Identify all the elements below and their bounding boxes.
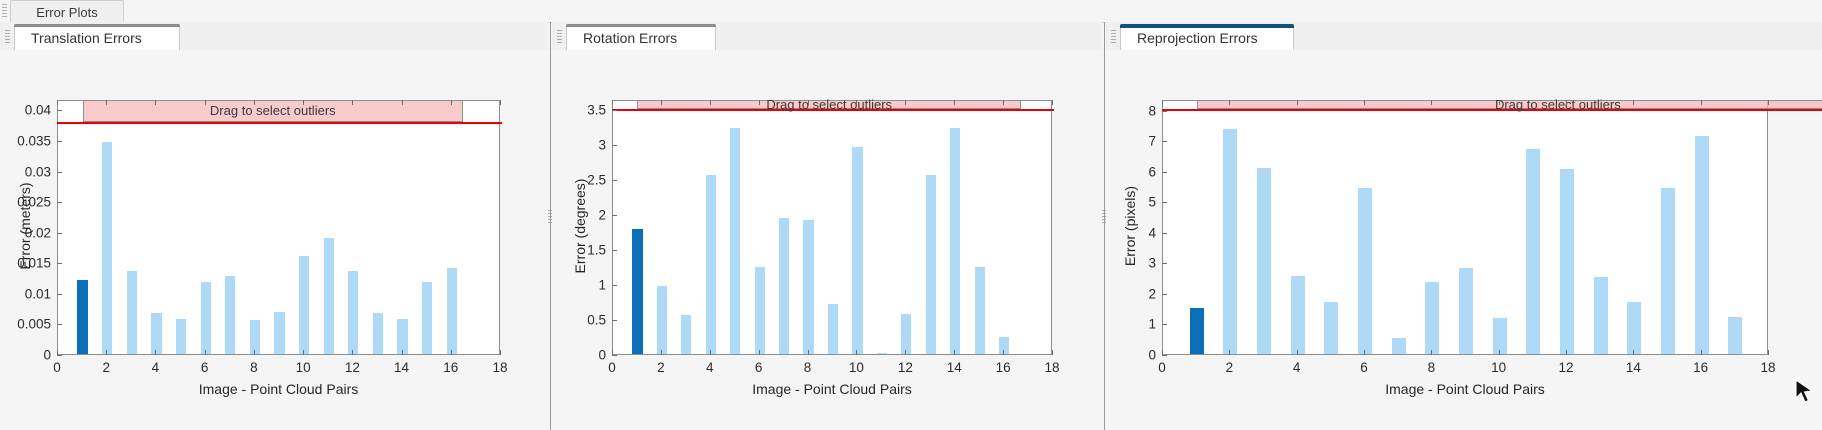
- bar[interactable]: [657, 286, 667, 354]
- x-axis-tick-mark: [612, 350, 613, 355]
- x-axis-tick-mark: [808, 350, 809, 355]
- x-axis-tick-label: 6: [755, 360, 763, 375]
- x-axis-tick-mark: [1364, 350, 1365, 355]
- x-axis-tick-label: 14: [1626, 360, 1641, 375]
- plot-area[interactable]: Drag to select outliers: [57, 100, 500, 355]
- x-axis-tick-label: 18: [1760, 360, 1775, 375]
- outlier-threshold-line[interactable]: [1162, 109, 1822, 111]
- x-axis-top-tick-mark: [1297, 100, 1298, 105]
- bar[interactable]: [730, 128, 740, 354]
- x-axis-tick-label: 18: [1044, 360, 1059, 375]
- x-axis-tick-label: 2: [657, 360, 665, 375]
- bar[interactable]: [1695, 136, 1709, 354]
- y-axis-tick-mark: [1162, 202, 1167, 203]
- y-axis-label: Error (degrees): [572, 146, 588, 306]
- y-axis-label: Error (meters): [17, 146, 33, 306]
- bar[interactable]: [1728, 317, 1742, 354]
- x-axis-top-tick-mark: [612, 100, 613, 105]
- plot-panel-1: Translation ErrorsDrag to select outlier…: [0, 22, 548, 430]
- x-axis-top-tick-mark: [1633, 100, 1634, 105]
- x-axis-tick-mark: [1701, 350, 1702, 355]
- y-axis-tick-mark: [57, 263, 62, 264]
- x-axis-tick-mark: [1633, 350, 1634, 355]
- tab-grip-icon[interactable]: [1111, 30, 1116, 43]
- x-axis-label: Image - Point Cloud Pairs: [57, 381, 500, 397]
- x-axis-top-tick-mark: [352, 100, 353, 105]
- bar[interactable]: [1324, 302, 1338, 354]
- x-axis-tick-label: 16: [1693, 360, 1708, 375]
- x-axis-top-tick-mark: [1499, 100, 1500, 105]
- bar[interactable]: [632, 229, 642, 354]
- plot-panels: Translation ErrorsDrag to select outlier…: [0, 22, 1822, 430]
- y-axis-tick-label: 0.5: [560, 313, 606, 328]
- x-axis-top-tick-mark: [1566, 100, 1567, 105]
- bar[interactable]: [1291, 276, 1305, 354]
- panel-splitter-2[interactable]: [1104, 22, 1105, 430]
- x-axis-tick-label: 8: [804, 360, 812, 375]
- x-axis-top-tick-mark: [661, 100, 662, 105]
- y-axis-tick-mark: [612, 285, 617, 286]
- y-axis-label: Error (pixels): [1122, 146, 1138, 306]
- x-axis-tick-mark: [1162, 350, 1163, 355]
- bar[interactable]: [877, 353, 887, 354]
- y-axis-tick-mark: [57, 202, 62, 203]
- tab-rotation-errors[interactable]: Rotation Errors: [566, 24, 716, 51]
- x-axis-top-tick-mark: [710, 100, 711, 105]
- bar[interactable]: [201, 282, 211, 354]
- x-axis-top-tick-mark: [402, 100, 403, 105]
- y-axis-tick-mark: [612, 250, 617, 251]
- x-axis-tick-label: 12: [1558, 360, 1573, 375]
- x-axis-tick-mark: [57, 350, 58, 355]
- bar[interactable]: [274, 312, 284, 354]
- y-axis-tick-mark: [1162, 233, 1167, 234]
- outlier-selection-band[interactable]: Drag to select outliers: [637, 100, 1021, 109]
- x-axis-top-tick-mark: [106, 100, 107, 105]
- bar[interactable]: [1425, 282, 1439, 354]
- tab-label: Rotation Errors: [583, 30, 677, 46]
- bar[interactable]: [1459, 268, 1473, 354]
- x-axis-tick-label: 0: [608, 360, 616, 375]
- y-axis-tick-mark: [57, 141, 62, 142]
- y-axis-tick-label: 0.04: [5, 103, 51, 118]
- y-axis-tick-label: 8: [1110, 103, 1156, 118]
- y-axis-tick-label: 0: [560, 348, 606, 363]
- y-axis-tick-mark: [57, 172, 62, 173]
- x-axis-tick-label: 4: [1293, 360, 1301, 375]
- x-axis-top-tick-mark: [1768, 100, 1769, 105]
- y-axis-tick-mark: [612, 110, 617, 111]
- y-axis-tick-mark: [612, 320, 617, 321]
- outlier-selection-band[interactable]: Drag to select outliers: [83, 100, 463, 122]
- bar[interactable]: [1392, 338, 1406, 354]
- x-axis-top-tick-mark: [254, 100, 255, 105]
- x-axis-top-tick-mark: [451, 100, 452, 105]
- x-axis-tick-label: 8: [250, 360, 258, 375]
- y-axis-tick-mark: [57, 110, 62, 111]
- x-axis-top-tick-mark: [1229, 100, 1230, 105]
- x-axis-tick-mark: [352, 350, 353, 355]
- document-tab-label: Error Plots: [36, 5, 97, 20]
- x-axis-top-tick-mark: [1431, 100, 1432, 105]
- x-axis-tick-label: 6: [201, 360, 209, 375]
- x-axis-tick-label: 10: [849, 360, 864, 375]
- bar[interactable]: [324, 238, 334, 354]
- x-axis-tick-mark: [1431, 350, 1432, 355]
- document-tabstrip: Error Plots: [0, 0, 1822, 23]
- tab-label: Reprojection Errors: [1137, 30, 1258, 46]
- y-axis-tick-mark: [612, 145, 617, 146]
- document-tab-error-plots[interactable]: Error Plots: [10, 0, 124, 23]
- x-axis-tick-label: 4: [706, 360, 714, 375]
- bar[interactable]: [1560, 169, 1574, 354]
- x-axis-top-tick-mark: [1162, 100, 1163, 105]
- x-axis-tick-mark: [1297, 350, 1298, 355]
- x-axis-label: Image - Point Cloud Pairs: [1162, 381, 1768, 397]
- bar[interactable]: [1661, 188, 1675, 354]
- bar[interactable]: [1223, 129, 1237, 354]
- x-axis-top-tick-mark: [856, 100, 857, 105]
- x-axis-top-tick-mark: [500, 100, 501, 105]
- bar[interactable]: [681, 315, 691, 354]
- bar[interactable]: [1257, 168, 1271, 354]
- x-axis-top-tick-mark: [1003, 100, 1004, 105]
- bar[interactable]: [225, 276, 235, 354]
- bar[interactable]: [803, 220, 813, 354]
- x-axis-top-tick-mark: [1052, 100, 1053, 105]
- tab-active-indicator: [566, 24, 716, 27]
- x-axis-tick-mark: [1499, 350, 1500, 355]
- x-axis-tick-label: 10: [296, 360, 311, 375]
- x-axis-tick-mark: [905, 350, 906, 355]
- mouse-cursor-icon: [1794, 378, 1816, 404]
- bar[interactable]: [176, 319, 186, 354]
- bar[interactable]: [828, 304, 838, 354]
- outlier-selection-band[interactable]: Drag to select outliers: [1197, 100, 1822, 109]
- bar[interactable]: [1526, 149, 1540, 354]
- bar[interactable]: [1190, 308, 1204, 354]
- y-axis-tick-mark: [57, 233, 62, 234]
- bar[interactable]: [447, 268, 457, 354]
- bar[interactable]: [151, 313, 161, 354]
- y-axis-tick-mark: [57, 324, 62, 325]
- x-axis-top-tick-mark: [905, 100, 906, 105]
- bar[interactable]: [755, 267, 765, 354]
- bar[interactable]: [1358, 188, 1372, 354]
- x-axis-tick-mark: [1768, 350, 1769, 355]
- tab-label: Translation Errors: [31, 30, 142, 46]
- tab-active-indicator: [1120, 24, 1294, 28]
- bar[interactable]: [348, 271, 358, 354]
- bar[interactable]: [975, 267, 985, 354]
- outlier-band-label: Drag to select outliers: [1495, 97, 1621, 112]
- y-axis-tick-mark: [57, 355, 62, 356]
- tab-grip-icon[interactable]: [557, 30, 562, 43]
- x-axis-label: Image - Point Cloud Pairs: [612, 381, 1052, 397]
- x-axis-tick-mark: [205, 350, 206, 355]
- x-axis-tick-label: 12: [345, 360, 360, 375]
- y-axis-tick-mark: [1162, 172, 1167, 173]
- x-axis-tick-label: 12: [898, 360, 913, 375]
- plot-area[interactable]: Drag to select outliers: [612, 100, 1052, 355]
- bar[interactable]: [102, 142, 112, 354]
- panel-tabbar-1: Translation Errors: [0, 22, 548, 51]
- bar[interactable]: [779, 218, 789, 354]
- bar[interactable]: [706, 175, 716, 354]
- y-axis-tick-mark: [57, 294, 62, 295]
- outlier-band-label: Drag to select outliers: [210, 103, 336, 118]
- bar[interactable]: [950, 128, 960, 354]
- x-axis-top-tick-mark: [303, 100, 304, 105]
- x-axis-top-tick-mark: [1364, 100, 1365, 105]
- x-axis-tick-label: 18: [492, 360, 507, 375]
- x-axis-tick-label: 16: [443, 360, 458, 375]
- x-axis-tick-mark: [1229, 350, 1230, 355]
- outlier-band-label: Drag to select outliers: [766, 97, 892, 112]
- tab-reprojection-errors[interactable]: Reprojection Errors: [1120, 24, 1294, 51]
- bar[interactable]: [926, 175, 936, 354]
- bar[interactable]: [1493, 318, 1507, 354]
- x-axis-tick-mark: [155, 350, 156, 355]
- tab-grip-icon[interactable]: [5, 30, 10, 43]
- x-axis-tick-mark: [106, 350, 107, 355]
- y-axis-tick-mark: [1162, 355, 1167, 356]
- panel-splitter-1[interactable]: [550, 22, 551, 430]
- plot-panel-2: Rotation ErrorsDrag to select outliers00…: [552, 22, 1102, 430]
- bar[interactable]: [901, 314, 911, 354]
- x-axis-tick-mark: [1003, 350, 1004, 355]
- x-axis-tick-label: 16: [996, 360, 1011, 375]
- x-axis-top-tick-mark: [759, 100, 760, 105]
- x-axis-top-tick-mark: [808, 100, 809, 105]
- y-axis-tick-mark: [1162, 111, 1167, 112]
- y-axis-tick-label: 0.005: [5, 317, 51, 332]
- y-axis-tick-mark: [612, 180, 617, 181]
- x-axis-tick-mark: [303, 350, 304, 355]
- x-axis-top-tick-mark: [155, 100, 156, 105]
- x-axis-tick-label: 2: [102, 360, 110, 375]
- x-axis-tick-label: 2: [1226, 360, 1234, 375]
- y-axis-tick-label: 1: [1110, 317, 1156, 332]
- y-axis-tick-label: 0: [1110, 348, 1156, 363]
- x-axis-tick-label: 14: [394, 360, 409, 375]
- x-axis-top-tick-mark: [57, 100, 58, 105]
- x-axis-tick-label: 4: [152, 360, 160, 375]
- x-axis-tick-label: 14: [947, 360, 962, 375]
- bar[interactable]: [299, 256, 309, 354]
- error-plots-window: Error Plots Translation ErrorsDrag to se…: [0, 0, 1822, 430]
- chart-2: Drag to select outliers00.511.522.533.50…: [552, 50, 1102, 430]
- x-axis-tick-mark: [661, 350, 662, 355]
- x-axis-tick-label: 0: [1158, 360, 1166, 375]
- y-axis-tick-mark: [612, 355, 617, 356]
- y-axis-tick-mark: [1162, 263, 1167, 264]
- bar[interactable]: [852, 147, 862, 354]
- panel-tabbar-2: Rotation Errors: [552, 22, 1102, 51]
- x-axis-tick-mark: [710, 350, 711, 355]
- x-axis-tick-label: 0: [53, 360, 61, 375]
- chart-3: Drag to select outliers01234567802468101…: [1106, 50, 1822, 430]
- x-axis-tick-mark: [759, 350, 760, 355]
- x-axis-tick-label: 10: [1491, 360, 1506, 375]
- bar[interactable]: [127, 271, 137, 354]
- y-axis-tick-mark: [1162, 294, 1167, 295]
- y-axis-tick-mark: [1162, 324, 1167, 325]
- y-axis-tick-mark: [612, 215, 617, 216]
- x-axis-top-tick-mark: [205, 100, 206, 105]
- chart-1: Drag to select outliers00.0050.010.0150.…: [0, 50, 548, 430]
- x-axis-tick-mark: [402, 350, 403, 355]
- x-axis-tick-mark: [856, 350, 857, 355]
- plot-area[interactable]: Drag to select outliers: [1162, 100, 1768, 355]
- y-axis-tick-label: 0: [5, 348, 51, 363]
- x-axis-tick-mark: [254, 350, 255, 355]
- bar[interactable]: [1627, 302, 1641, 354]
- panel-tabbar-3: Reprojection Errors: [1106, 22, 1822, 51]
- bar[interactable]: [373, 313, 383, 354]
- x-axis-tick-label: 8: [1428, 360, 1436, 375]
- tab-translation-errors[interactable]: Translation Errors: [14, 24, 180, 51]
- x-axis-tick-mark: [1052, 350, 1053, 355]
- y-axis-tick-mark: [1162, 141, 1167, 142]
- x-axis-top-tick-mark: [1701, 100, 1702, 105]
- x-axis-tick-label: 6: [1360, 360, 1368, 375]
- bar[interactable]: [397, 319, 407, 354]
- x-axis-tick-mark: [954, 350, 955, 355]
- bar[interactable]: [422, 282, 432, 354]
- x-axis-top-tick-mark: [954, 100, 955, 105]
- x-axis-tick-mark: [500, 350, 501, 355]
- tabstrip-grip-icon[interactable]: [2, 4, 7, 17]
- x-axis-tick-mark: [451, 350, 452, 355]
- x-axis-tick-mark: [1566, 350, 1567, 355]
- outlier-threshold-line[interactable]: [57, 122, 502, 124]
- bar[interactable]: [1594, 277, 1608, 354]
- bar[interactable]: [77, 280, 87, 354]
- plot-panel-3: Reprojection ErrorsDrag to select outlie…: [1106, 22, 1822, 430]
- y-axis-tick-label: 3.5: [560, 103, 606, 118]
- bar[interactable]: [250, 320, 260, 354]
- tab-active-indicator: [14, 24, 180, 27]
